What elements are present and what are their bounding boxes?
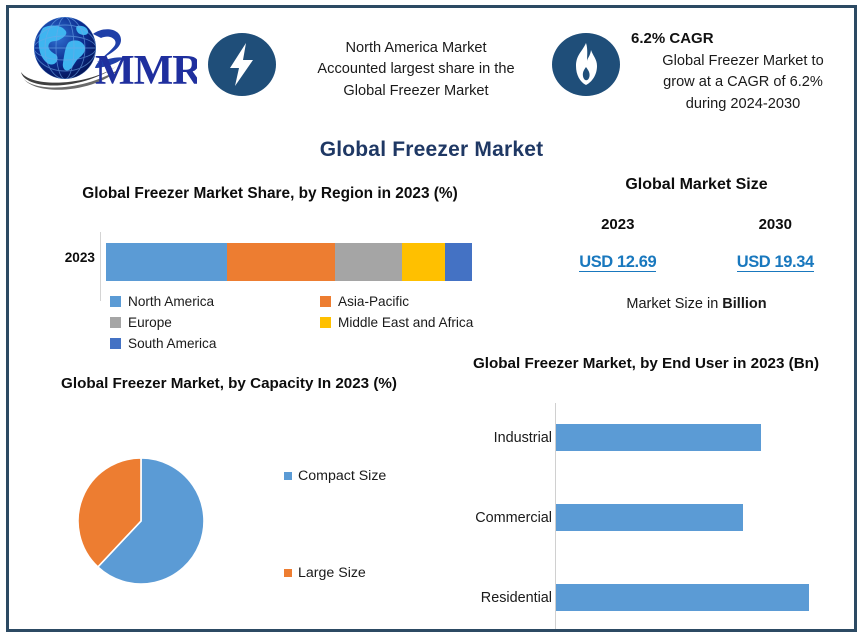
market-size-footnote-unit: Billion (722, 296, 766, 312)
legend-item: Europe (110, 312, 320, 333)
end-user-label-industrial: Industrial (402, 430, 552, 446)
market-size-value-2030-cell: USD 19.34 (697, 254, 855, 272)
pie-chart (77, 457, 205, 585)
legend-item: Middle East and Africa (320, 312, 530, 333)
stacked-bar (106, 243, 472, 281)
stacked-bar-segment-north-america (106, 243, 227, 281)
highlight2-line2: grow at a CAGR of 6.2% (663, 74, 823, 90)
market-size-panel: Global Market Size 2023 2030 USD 12.69 U… (539, 176, 854, 316)
logo-wordmark: MMR (95, 48, 197, 94)
legend-swatch-icon (284, 472, 292, 480)
pie-chart-svg (77, 457, 205, 585)
market-size-footnote-prefix: Market Size in (626, 296, 722, 312)
legend-item: Large Size (284, 565, 444, 581)
market-size-year-2030: 2030 (697, 216, 855, 233)
header-highlight-north-america: North America Market Accounted largest s… (287, 38, 545, 102)
legend-item: North America (110, 291, 320, 312)
infographic-frame: MMR North America Market Accounted large… (6, 5, 857, 632)
legend-swatch-icon (110, 317, 121, 328)
lightning-bolt-icon (208, 33, 276, 96)
header: MMR North America Market Accounted large… (9, 8, 854, 120)
highlight2-line3: during 2024-2030 (686, 96, 800, 112)
region-category-label: 2023 (39, 250, 95, 265)
region-chart-axis (100, 232, 101, 301)
end-user-bar-commercial (556, 504, 743, 531)
legend-item: Asia-Pacific (320, 291, 530, 312)
legend-label: South America (128, 336, 216, 351)
end-user-bar-industrial (556, 424, 761, 451)
market-size-year-2023: 2023 (539, 216, 697, 233)
market-size-years: 2023 2030 (539, 216, 854, 233)
market-size-value-2023-cell: USD 12.69 (539, 254, 697, 272)
market-size-value-2023: USD 12.69 (579, 254, 656, 272)
market-size-title: Global Market Size (539, 176, 854, 194)
legend-label: North America (128, 294, 214, 309)
legend-swatch-icon (320, 296, 331, 307)
end-user-bar-residential (556, 584, 809, 611)
region-legend: North AmericaAsia-PacificEuropeMiddle Ea… (110, 291, 530, 354)
chart-end-user: Global Freezer Market, by End User in 20… (441, 348, 854, 638)
legend-swatch-icon (320, 317, 331, 328)
chart-capacity-title: Global Freezer Market, by Capacity In 20… (44, 373, 414, 395)
legend-item: Compact Size (284, 468, 444, 484)
mmr-logo: MMR (17, 12, 197, 94)
legend-label: Europe (128, 315, 172, 330)
legend-swatch-icon (110, 338, 121, 349)
flame-badge (552, 33, 620, 96)
end-user-bars: IndustrialCommercialResidential (441, 403, 854, 629)
page-title: Global Freezer Market (9, 138, 854, 162)
end-user-label-residential: Residential (402, 590, 552, 606)
legend-label: Asia-Pacific (338, 294, 409, 309)
infographic-canvas: MMR North America Market Accounted large… (0, 0, 863, 638)
highlight1-line2: Accounted largest share in the (317, 61, 514, 77)
header-highlight-cagr: 6.2% CAGR Global Freezer Market to grow … (631, 28, 855, 115)
legend-label: Compact Size (298, 468, 386, 484)
globe-logo-icon: MMR (17, 12, 197, 94)
legend-label: Middle East and Africa (338, 315, 473, 330)
stacked-bar-segment-south-america (445, 243, 472, 281)
market-size-value-2030: USD 19.34 (737, 254, 814, 272)
market-size-footnote: Market Size in Billion (539, 296, 854, 312)
flame-icon (552, 33, 620, 96)
market-size-values: USD 12.69 USD 19.34 (539, 254, 854, 272)
highlight2-line1: Global Freezer Market to (662, 53, 823, 69)
chart-region-share: Global Freezer Market Share, by Region i… (9, 183, 531, 358)
end-user-row: Residential (441, 575, 854, 621)
stacked-bar-segment-middle-east-and-africa (402, 243, 444, 281)
chart-region-share-title: Global Freezer Market Share, by Region i… (35, 183, 505, 205)
highlight1-line1: North America Market (345, 40, 486, 56)
stacked-bar-segment-asia-pacific (227, 243, 335, 281)
legend-label: Large Size (298, 565, 366, 581)
cagr-heading: 6.2% CAGR (631, 28, 855, 50)
highlight1-line3: Global Freezer Market (343, 83, 488, 99)
end-user-row: Industrial (441, 415, 854, 461)
chart-end-user-title: Global Freezer Market, by End User in 20… (471, 353, 821, 375)
legend-swatch-icon (284, 569, 292, 577)
legend-swatch-icon (110, 296, 121, 307)
legend-item: South America (110, 333, 320, 354)
end-user-label-commercial: Commercial (402, 510, 552, 526)
end-user-row: Commercial (441, 495, 854, 541)
lightning-badge (208, 33, 276, 96)
chart-capacity-share: Global Freezer Market, by Capacity In 20… (9, 368, 449, 638)
stacked-bar-segment-europe (335, 243, 403, 281)
